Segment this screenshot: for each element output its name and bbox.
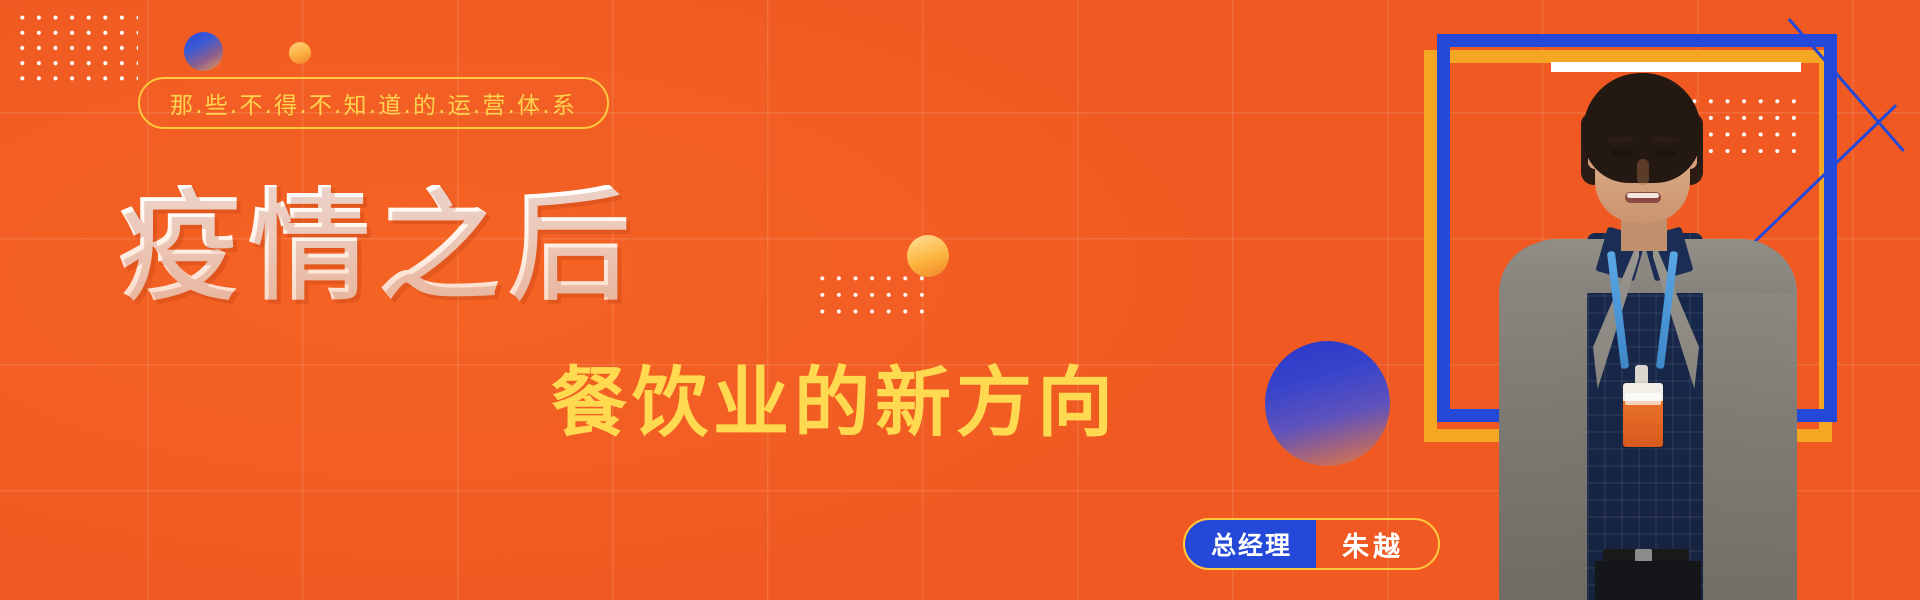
kicker-pill: 那.些.不.得.不.知.道.的.运.营.体.系 (138, 77, 609, 129)
speaker-name: 朱越 (1316, 520, 1438, 568)
portrait-teeth (1627, 193, 1659, 198)
gradient-sphere-icon (184, 32, 223, 71)
portrait-eye-left (1611, 149, 1632, 156)
portrait-nose (1637, 159, 1649, 185)
portrait-eye-right (1655, 149, 1676, 156)
speaker-badge: 总经理 朱越 (1183, 518, 1440, 570)
photo-frame-white-bar (1551, 62, 1801, 72)
kicker-text: 那.些.不.得.不.知.道.的.运.营.体.系 (170, 86, 577, 120)
page-subtitle: 餐饮业的新方向 (551, 365, 1118, 441)
gradient-sphere-icon (907, 235, 949, 277)
page-title-shadow: 疫情之后 (122, 189, 642, 311)
gradient-sphere-icon (1265, 341, 1390, 466)
dot-grid-icon (814, 270, 932, 322)
gradient-sphere-icon (289, 42, 311, 64)
event-banner: 那.些.不.得.不.知.道.的.运.营.体.系 疫情之后 疫情之后 餐饮业的新方… (0, 0, 1920, 600)
speaker-role: 总经理 (1185, 520, 1316, 568)
dot-grid-icon (14, 10, 138, 85)
portrait-id-badge-glare (1625, 393, 1661, 405)
speaker-portrait (1475, 55, 1805, 600)
portrait-trousers (1595, 561, 1701, 600)
